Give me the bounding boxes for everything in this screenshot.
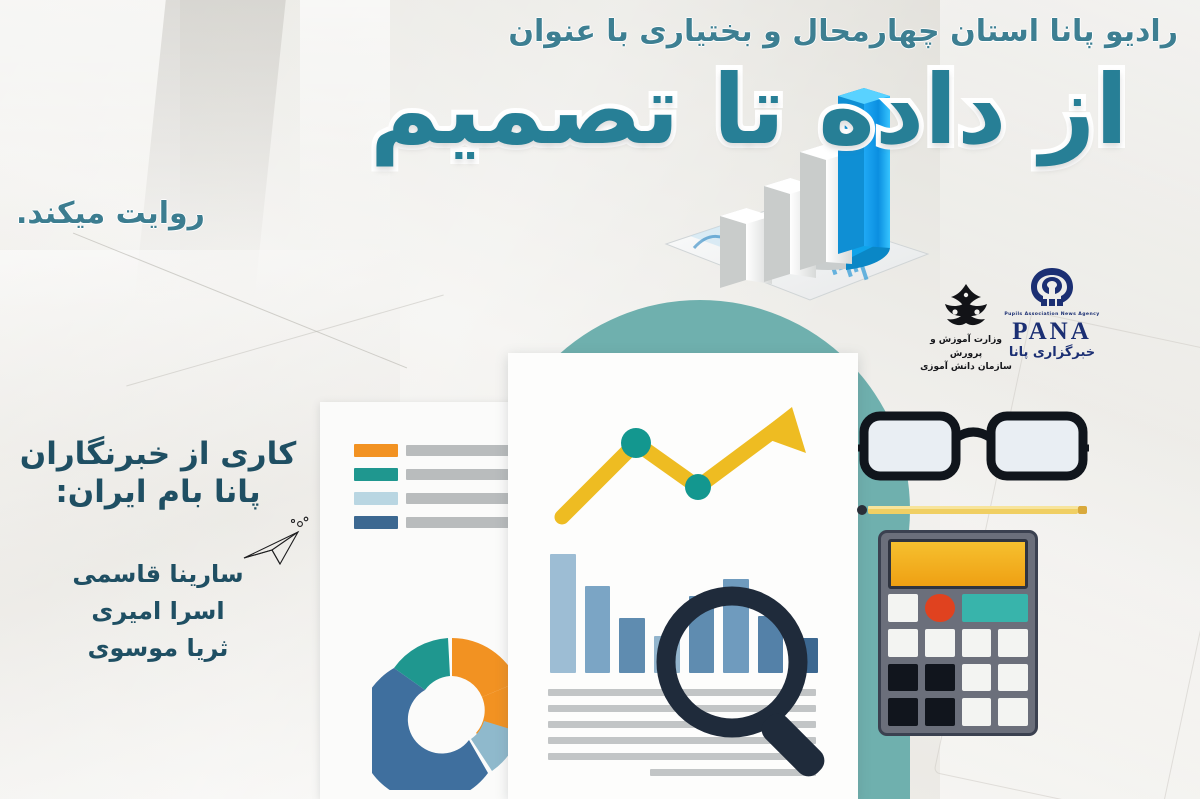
legend-swatch-teal [354, 468, 398, 481]
calculator-key-power[interactable] [925, 594, 955, 622]
trend-marker [685, 474, 711, 500]
pencil-icon [856, 504, 1088, 516]
calculator-key[interactable] [962, 664, 992, 692]
subtitle-text: روایت میکند. [16, 196, 205, 231]
calculator-key-wide[interactable] [962, 594, 1029, 622]
credits-heading-line1: کاری از خبرنگاران [20, 436, 297, 472]
kicker-text: رادیو پانا استان چهارمحال و بختیاری با ع… [508, 14, 1178, 49]
calculator-key[interactable] [998, 664, 1028, 692]
bar [585, 586, 611, 673]
bar [550, 554, 576, 673]
background-streak [134, 0, 286, 300]
calculator-key[interactable] [925, 629, 955, 657]
background-streak [0, 0, 180, 320]
calculator-key[interactable] [888, 664, 918, 692]
magnifying-glass-icon [650, 580, 850, 790]
calculator-keypad [888, 594, 1028, 726]
calculator-key[interactable] [888, 594, 918, 622]
bar [619, 618, 645, 673]
legend-swatch-darkblue [354, 516, 398, 529]
credit-name: ثریا موسوی [12, 630, 304, 667]
calculator-key[interactable] [925, 698, 955, 726]
credits-heading: کاری از خبرنگاران پانا بام ایران: [12, 436, 304, 512]
calculator-key[interactable] [962, 629, 992, 657]
credit-name: اسرا امیری [12, 593, 304, 630]
data-analysis-illustration [280, 280, 1080, 799]
calculator-key[interactable] [888, 698, 918, 726]
calculator-key[interactable] [888, 629, 918, 657]
trend-marker [621, 428, 651, 458]
calculator-key[interactable] [998, 698, 1028, 726]
credits-heading-line2: پانا بام ایران: [12, 474, 304, 512]
calculator [878, 530, 1038, 736]
trend-arrow-chart [548, 401, 826, 531]
legend-swatch-lightblue [354, 492, 398, 505]
eyeglasses-icon [856, 408, 1091, 486]
calculator-display [888, 539, 1028, 589]
legend-swatch-orange [354, 444, 398, 457]
calculator-key[interactable] [962, 698, 992, 726]
poster-canvas: رادیو پانا استان چهارمحال و بختیاری با ع… [0, 0, 1200, 799]
credits-block: کاری از خبرنگاران پانا بام ایران: سارینا… [12, 436, 304, 667]
calculator-key[interactable] [998, 629, 1028, 657]
calculator-key[interactable] [925, 664, 955, 692]
page-title: از داده تا تصمیم [370, 62, 1128, 160]
page-title-line: از داده تا تصمیم [370, 54, 1128, 166]
